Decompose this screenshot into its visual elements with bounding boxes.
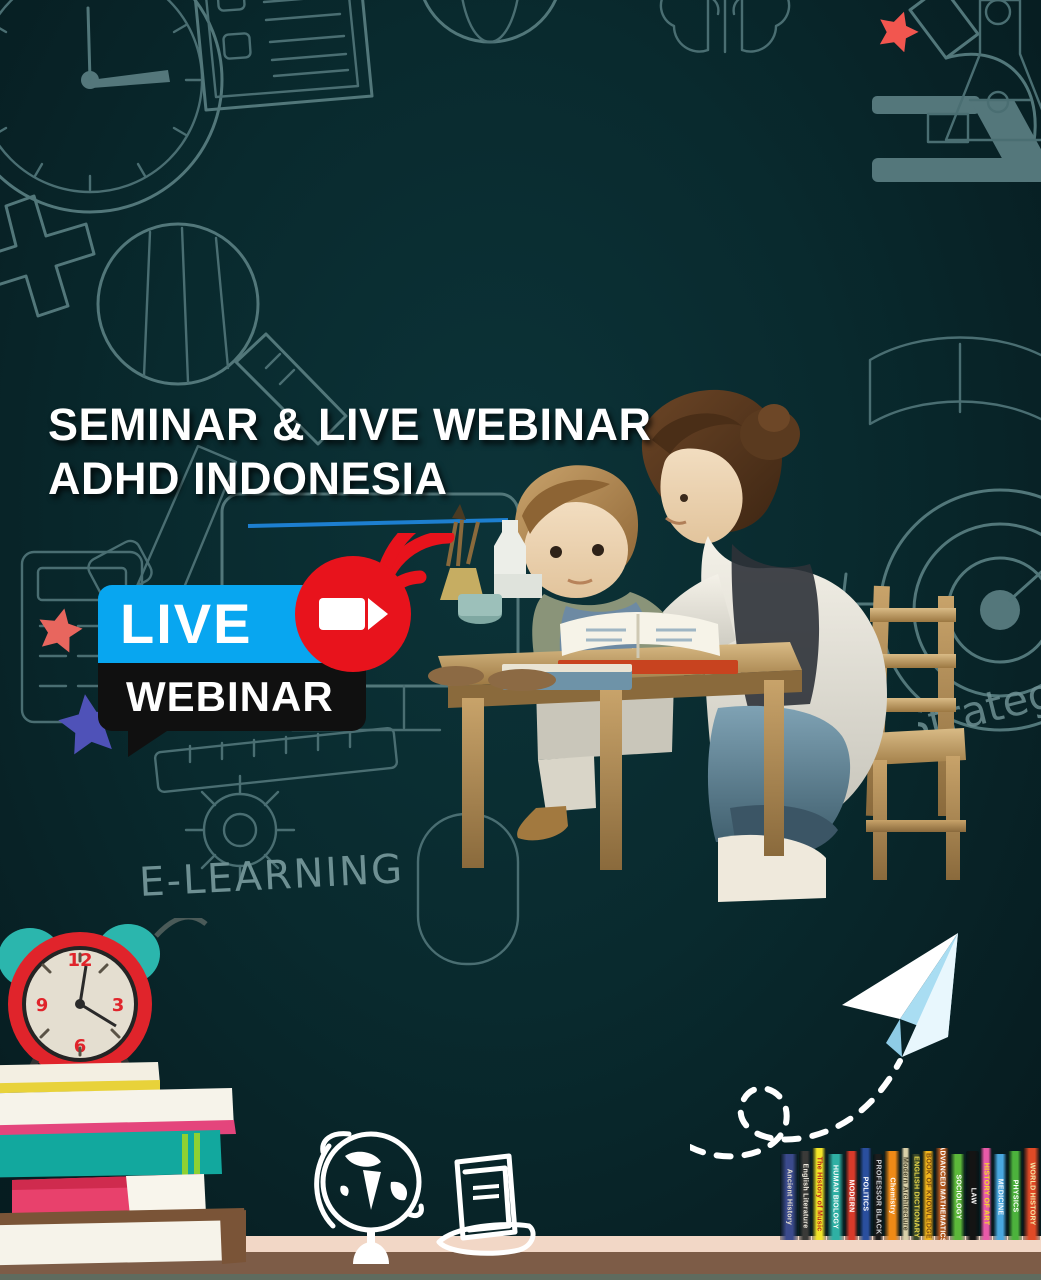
chalk-elearning-text: E-LEARNING (140, 850, 410, 912)
svg-text:9: 9 (36, 995, 49, 1016)
book-title: LAW (969, 1187, 976, 1203)
book-title: Chemistry (888, 1177, 895, 1214)
brain-icon (640, 0, 870, 110)
globe-icon (400, 0, 580, 60)
live-label: LIVE (120, 596, 252, 652)
paper-plane-with-trail (690, 915, 1040, 1175)
tablet-icon (439, 1156, 533, 1253)
book-title: POLITICS (862, 1177, 869, 1212)
seminar-webinar-poster: E-LEARNING Strategy (0, 0, 1041, 1280)
live-webinar-badge[interactable]: LIVE WEBINAR (98, 585, 366, 731)
poster-title: SEMINAR & LIVE WEBINAR ADHD INDONESIA (48, 398, 652, 506)
book-title: SOCIOLOGY (954, 1174, 961, 1219)
book-title: PHYSICS (1012, 1179, 1019, 1212)
elearning-label: E-LEARNING (140, 850, 405, 906)
paper-plane-icon (842, 933, 958, 1057)
camera-body (319, 598, 365, 630)
clipboard-icon (170, 0, 380, 150)
live-bar: LIVE (98, 585, 366, 663)
alarm-clock-and-books: 12 3 6 9 (0, 918, 278, 1280)
plus-icon (0, 192, 96, 322)
star-coral-top-icon (876, 8, 920, 52)
video-camera-icon (295, 556, 411, 672)
svg-text:3: 3 (112, 995, 125, 1016)
book-title: MEDICINE (997, 1179, 1004, 1216)
book-title: MODERN (848, 1179, 855, 1212)
title-line-1: SEMINAR & LIVE WEBINAR (48, 398, 652, 452)
title-line-2: ADHD INDONESIA (48, 452, 652, 506)
camera-lens (368, 598, 388, 630)
star-coral-icon (36, 605, 84, 653)
flask-icon (930, 0, 1041, 170)
clock-icon (0, 0, 240, 230)
book-title: Ancient History (785, 1169, 792, 1225)
webinar-bar: WEBINAR (98, 663, 366, 731)
globe-and-tablet-icons (305, 1122, 565, 1272)
stacked-books (0, 1062, 246, 1266)
webinar-label: WEBINAR (126, 676, 334, 718)
globe-stand-icon (317, 1134, 422, 1264)
